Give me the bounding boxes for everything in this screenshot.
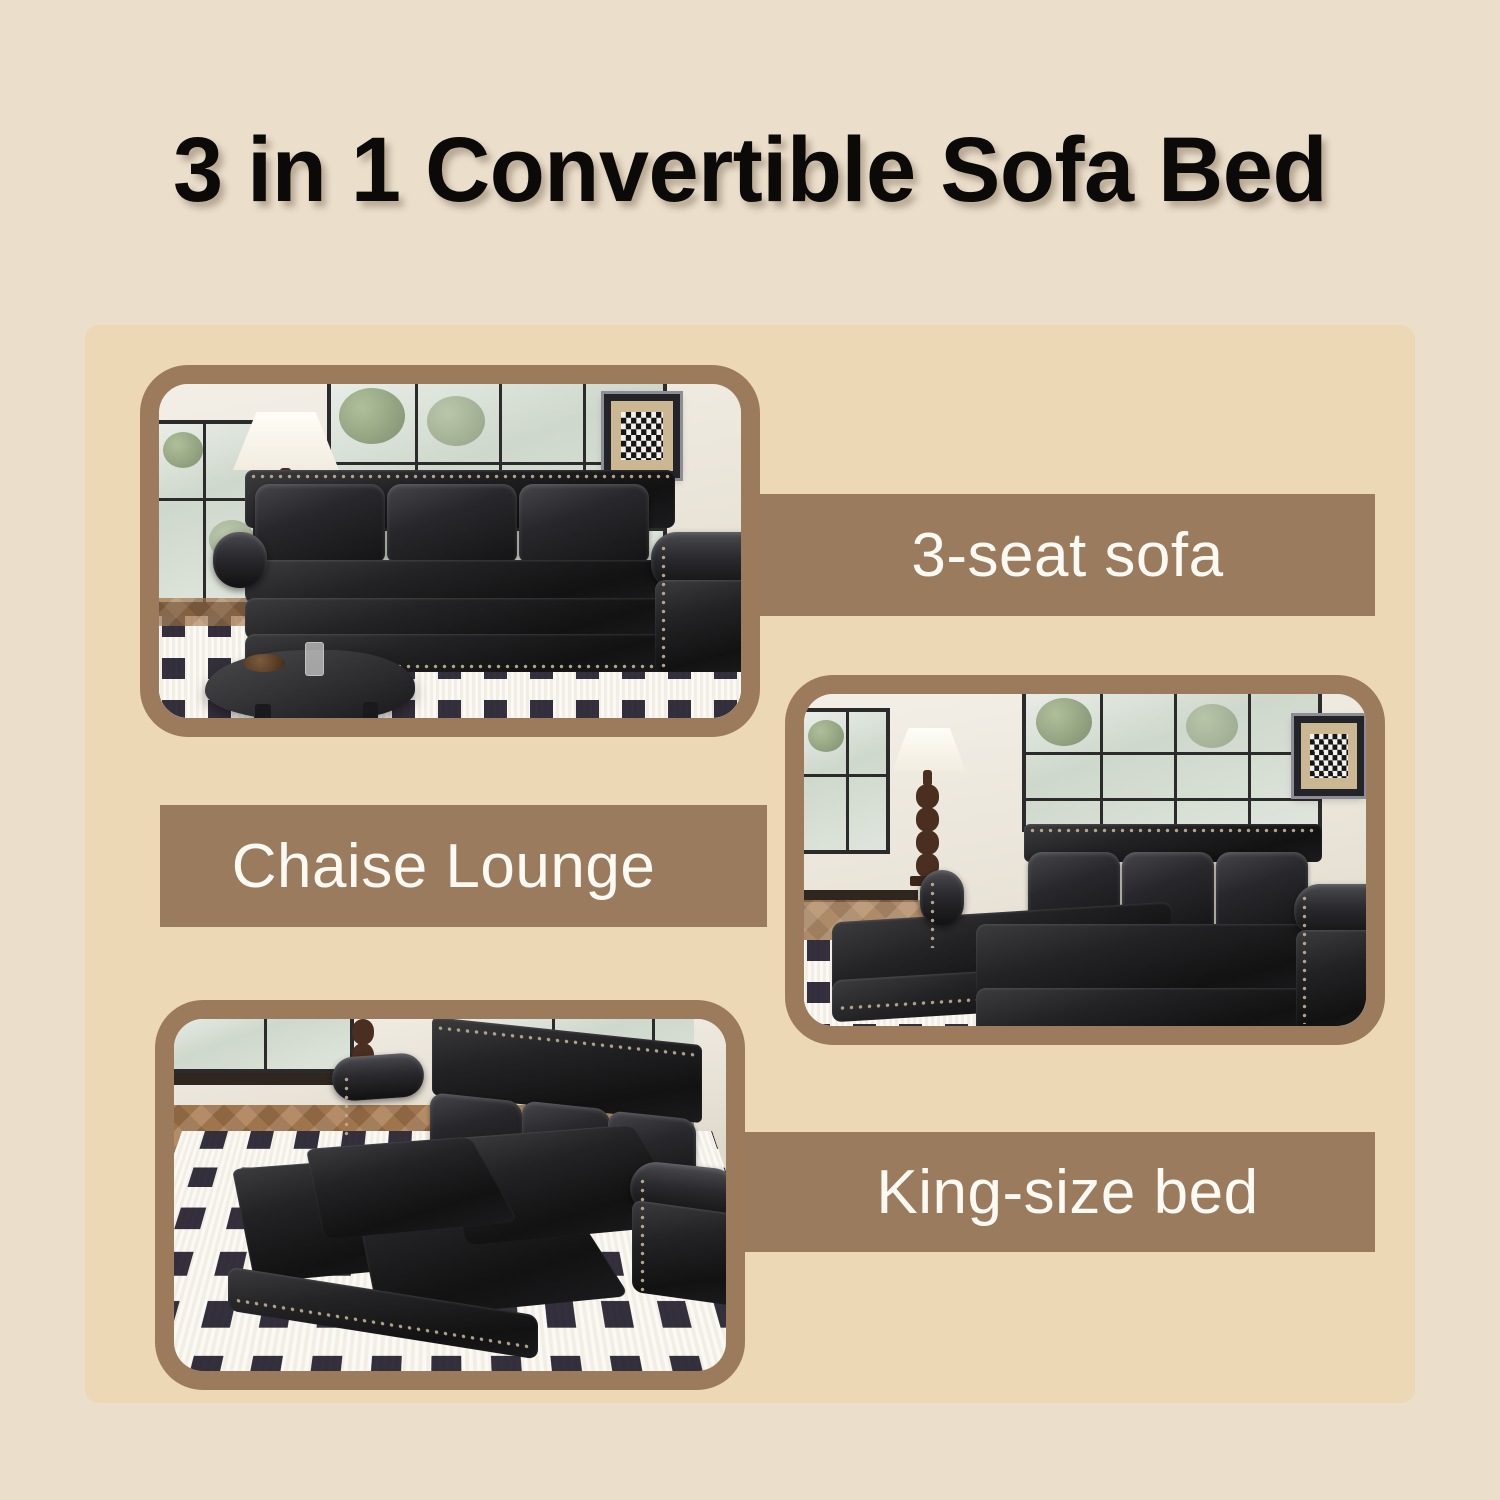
decor-vase	[305, 642, 324, 676]
page-title: 3 in 1 Convertible Sofa Bed	[15, 118, 1485, 223]
framed-artwork	[1294, 716, 1364, 796]
sofa-arm-left-nailhead	[928, 880, 937, 948]
sofa-back-cushion	[387, 484, 517, 562]
lamp-bead	[916, 807, 939, 832]
photo-chaise-lounge	[785, 675, 1385, 1045]
sofa-seat	[976, 924, 1316, 996]
framed-artwork	[604, 394, 680, 478]
scene-living-room-bed	[174, 1019, 726, 1371]
decor-bowl	[243, 654, 285, 672]
sofa-back-cushion	[255, 484, 385, 562]
lamp-bead	[916, 830, 939, 855]
bed-arm-nailhead	[638, 1177, 647, 1297]
artwork-pattern	[621, 412, 663, 460]
sofa-back-cushion	[519, 484, 649, 562]
label-bar-chaise-lounge: Chaise Lounge	[160, 805, 767, 927]
lamp-bead	[916, 784, 939, 809]
artwork-pattern	[1310, 734, 1348, 779]
sofa-nailhead-base	[984, 1024, 1310, 1026]
lamp-bead	[352, 1019, 374, 1045]
floor	[159, 598, 259, 626]
label-text-three-seat-sofa: 3-seat sofa	[911, 520, 1223, 591]
product-infographic: 3 in 1 Convertible Sofa Bed 3-seat sofa …	[0, 0, 1500, 1500]
window-left	[804, 708, 890, 854]
label-bar-three-seat-sofa: 3-seat sofa	[700, 494, 1375, 616]
label-bar-king-size-bed: King-size bed	[700, 1132, 1375, 1252]
sofa-back-cushion	[1216, 852, 1308, 934]
scene-living-room-chaise	[804, 694, 1366, 1026]
sofa-nailhead-top	[1028, 826, 1318, 835]
sofa-arm-left	[213, 532, 267, 588]
label-text-king-size-bed: King-size bed	[876, 1157, 1258, 1228]
coffee-table-leg	[363, 702, 378, 718]
label-text-chaise-lounge: Chaise Lounge	[232, 831, 656, 902]
bed-arm-left-nailhead	[342, 1075, 351, 1137]
sofa-arm-nailhead	[1300, 894, 1309, 1024]
sofa-base-front	[976, 988, 1316, 1026]
coffee-table-leg	[255, 704, 271, 718]
photo-king-size-bed	[155, 1000, 745, 1390]
scene-living-room-sofa	[159, 384, 741, 718]
window-back	[1022, 694, 1322, 832]
photo-three-seat-sofa	[140, 365, 760, 737]
sofa-nailhead-top	[249, 472, 673, 481]
sofa-arm-nailhead	[659, 544, 668, 668]
window-left	[174, 1019, 354, 1073]
sofa-arm-left	[920, 870, 964, 926]
